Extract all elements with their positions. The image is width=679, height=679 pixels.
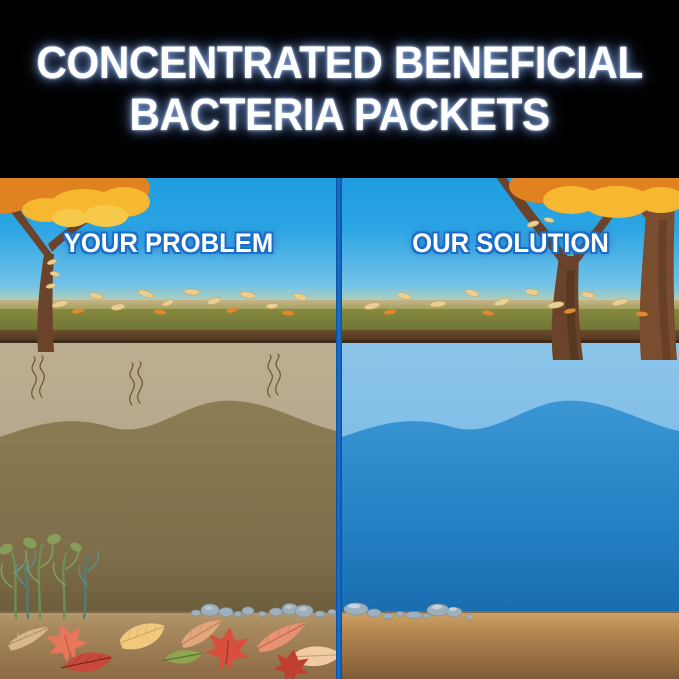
promo-image-root: CONCENTRATED BENEFICIAL BACTERIA PACKETS [0,0,679,679]
panel-our-solution: OUR SOLUTION [342,178,679,679]
leaf-compound-1 [6,626,52,651]
header-title-line-2: BACTERIA PACKETS [129,89,549,141]
bottom-rocks-right [342,597,472,621]
leaf-compound-2 [254,622,309,653]
autumn-trees-right [475,178,679,360]
header-title-line-1: CONCENTRATED BENEFICIAL [36,37,642,89]
panel-your-problem: YOUR PROBLEM [0,178,337,679]
ground-leaves-right [342,286,679,320]
pond-floor-right [342,611,679,679]
odor-squiggle-1 [22,355,62,401]
murky-water-left [0,343,337,679]
aquatic-plants-left [0,527,116,619]
header-banner: CONCENTRATED BENEFICIAL BACTERIA PACKETS [0,0,679,178]
odor-squiggle-2 [120,361,160,407]
panel-divider [336,178,342,679]
ground-leaves-left [0,286,337,320]
leaf-green-1 [162,645,202,669]
autumn-tree-left [0,178,196,352]
label-your-problem: YOUR PROBLEM [8,228,328,259]
comparison-scene: YOUR PROBLEM [0,178,679,679]
odor-squiggle-3 [258,353,298,399]
fallen-leaves-layer-left [0,607,337,679]
label-our-solution: OUR SOLUTION [350,228,670,259]
clean-water-right [342,343,679,679]
leaf-broad-1 [118,622,166,651]
